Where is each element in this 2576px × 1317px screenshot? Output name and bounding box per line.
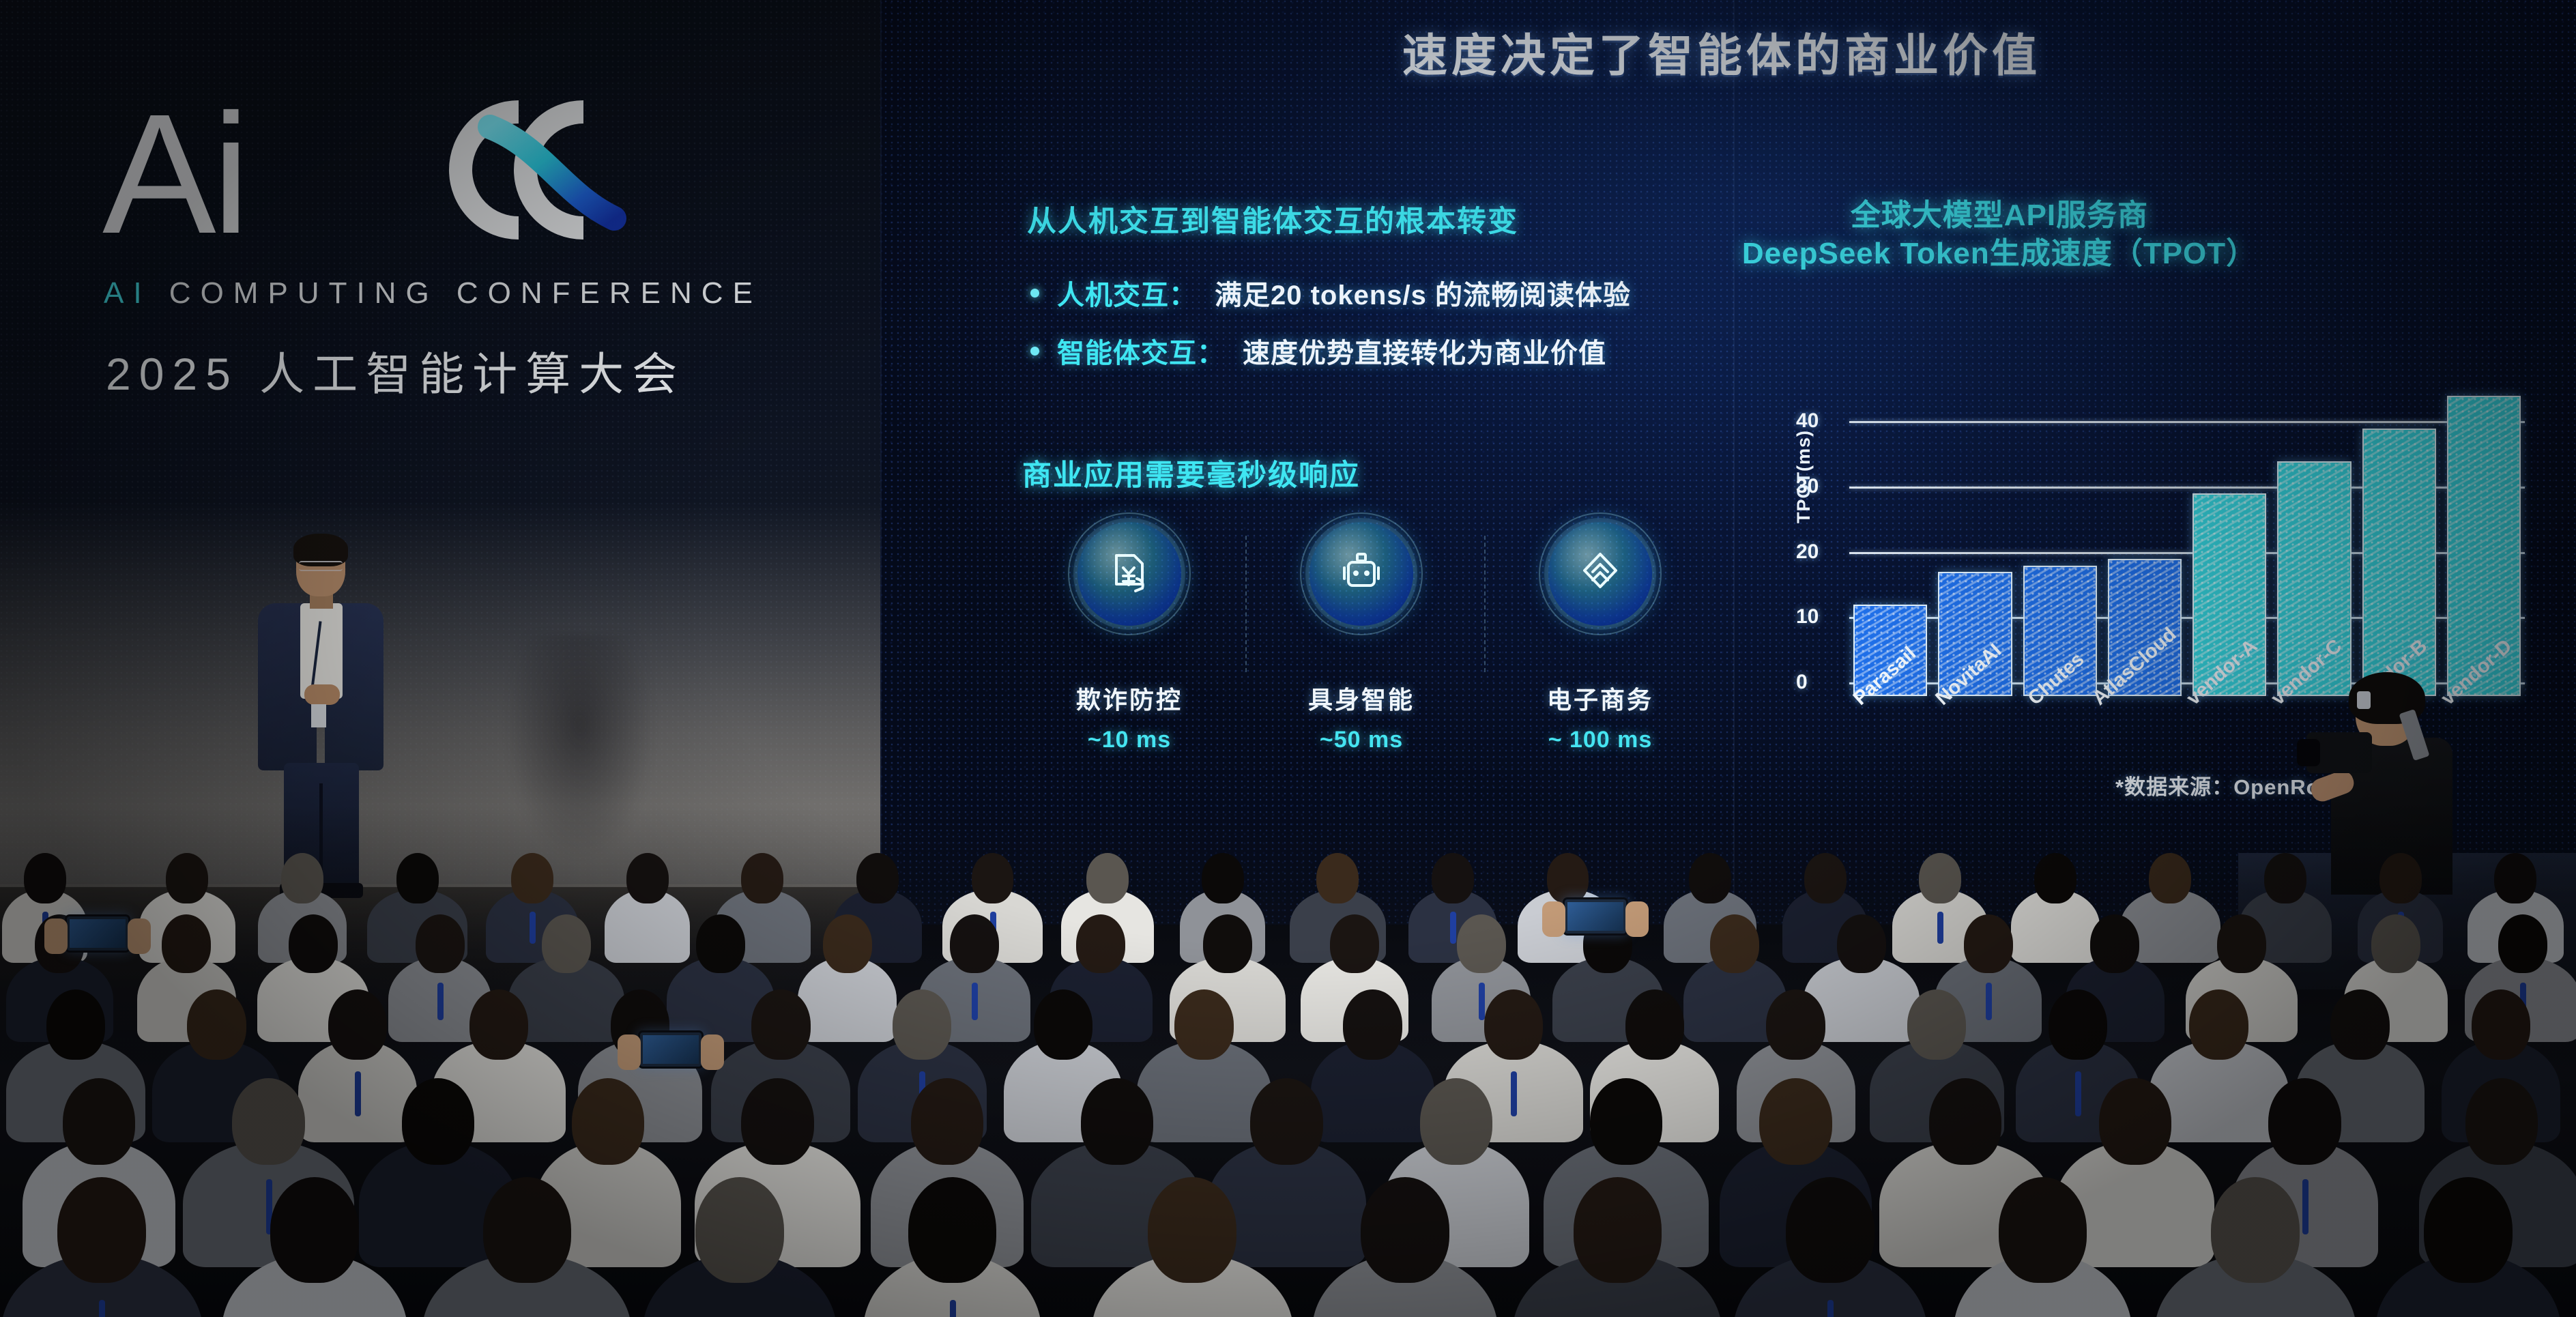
audience-head bbox=[2472, 989, 2530, 1060]
section-heading-latency: 商业应用需要毫秒级响应 bbox=[1022, 452, 1360, 494]
audience-head bbox=[166, 853, 208, 903]
audience-lanyard bbox=[1479, 983, 1485, 1020]
audience-head bbox=[1837, 914, 1886, 973]
audience-lanyard bbox=[950, 1300, 956, 1317]
card-label: 电子商务 bbox=[1511, 680, 1689, 716]
audience-head bbox=[856, 853, 899, 903]
audience-head bbox=[741, 853, 783, 903]
audience-head bbox=[1786, 1177, 1875, 1283]
audience-lanyard bbox=[530, 912, 536, 944]
audience-head bbox=[1689, 853, 1731, 903]
bullet-text: 满足20 tokens/s 的流畅阅读体验 bbox=[1215, 273, 1631, 313]
audience-head bbox=[2424, 1177, 2513, 1283]
card-value: ~10 ms bbox=[1041, 727, 1218, 753]
bullet-text: 速度优势直接转化为商业价值 bbox=[1243, 331, 1606, 371]
bullet-item-human-machine: 人机交互： 满足20 tokens/s 的流畅阅读体验 bbox=[1030, 273, 1631, 313]
audience-head bbox=[1034, 989, 1092, 1060]
fraud-document-yuan-icon bbox=[1103, 547, 1156, 600]
card-value: ~ 100 ms bbox=[1511, 727, 1689, 753]
audience-head bbox=[2268, 1078, 2341, 1165]
audience-crowd bbox=[0, 805, 2576, 1317]
x-label-slot: Parasail bbox=[1853, 688, 1927, 777]
audience-head bbox=[1574, 1177, 1662, 1283]
x-label-slot: Chutes bbox=[2023, 688, 2097, 777]
audience-head bbox=[396, 853, 439, 903]
audience-lanyard bbox=[1450, 912, 1456, 944]
audience-head bbox=[1202, 853, 1244, 903]
aicc-logo: Ai bbox=[102, 89, 703, 266]
headset-icon bbox=[2357, 691, 2371, 709]
audience-head bbox=[162, 914, 211, 973]
audience-head bbox=[1316, 853, 1359, 903]
card-orb bbox=[1077, 522, 1181, 626]
audience-lanyard bbox=[1511, 1071, 1517, 1116]
audience-head bbox=[270, 1177, 359, 1283]
audience-head bbox=[823, 914, 872, 973]
audience-head bbox=[1343, 989, 1402, 1060]
logo-tagline: AI COMPUTING CONFERENCE bbox=[104, 276, 762, 310]
bar-column bbox=[2023, 396, 2097, 696]
audience-hand bbox=[44, 918, 68, 954]
audience-head bbox=[187, 989, 246, 1060]
audience-lanyard bbox=[972, 983, 978, 1020]
led-panel-seam bbox=[880, 0, 882, 925]
audience-head bbox=[1759, 1078, 1832, 1165]
audience-head bbox=[741, 1078, 814, 1165]
audience-head bbox=[911, 1078, 984, 1165]
audience-head bbox=[542, 914, 591, 973]
audience-head bbox=[696, 914, 745, 973]
audience-head bbox=[2465, 1078, 2538, 1165]
audience-lanyard bbox=[2075, 1071, 2081, 1116]
audience-head bbox=[2379, 853, 2422, 903]
y-axis-tick-label: 30 bbox=[1796, 475, 1819, 498]
card-divider bbox=[1245, 536, 1247, 672]
conference-stage-photo: Ai AI COMPUTING CONFERENCE 2025 人工智能计算大会… bbox=[0, 0, 2576, 1317]
audience-head bbox=[1432, 853, 1474, 903]
audience-head bbox=[46, 989, 105, 1060]
audience-lanyard bbox=[1986, 983, 1992, 1020]
audience-head bbox=[2189, 989, 2248, 1060]
audience-head bbox=[751, 989, 810, 1060]
audience-head bbox=[2149, 853, 2191, 903]
audience-head bbox=[908, 1177, 997, 1283]
audience-lanyard bbox=[437, 983, 444, 1020]
conference-name-cn: 2025 人工智能计算大会 bbox=[106, 338, 685, 403]
audience-head bbox=[1484, 989, 1543, 1060]
audience-head bbox=[281, 853, 323, 903]
audience-phone-recording bbox=[638, 1030, 704, 1069]
audience-phone-recording bbox=[65, 914, 130, 953]
audience-head bbox=[416, 914, 465, 973]
bullet-dot-icon bbox=[1030, 289, 1039, 298]
bullet-item-agent: 智能体交互： 速度优势直接转化为商业价值 bbox=[1030, 331, 1606, 371]
audience-head bbox=[1547, 853, 1589, 903]
audience-head bbox=[1330, 914, 1379, 973]
latency-card-group: 欺诈防控 ~10 ms 具身智能 ~50 ms bbox=[1041, 522, 1764, 754]
audience-head bbox=[893, 989, 951, 1060]
speaker-badge bbox=[311, 704, 326, 727]
audience-head bbox=[2264, 853, 2306, 903]
audience-head bbox=[24, 853, 66, 903]
audience-head bbox=[1420, 1078, 1493, 1165]
camera-lens bbox=[2297, 739, 2320, 766]
audience-head bbox=[2049, 989, 2107, 1060]
audience-lanyard bbox=[2302, 1179, 2309, 1234]
logo-tagline-ai: AI bbox=[104, 276, 151, 310]
led-panel-seam bbox=[1733, 0, 1735, 925]
logo-tagline-rest: COMPUTING CONFERENCE bbox=[151, 276, 762, 310]
card-label: 欺诈防控 bbox=[1041, 680, 1218, 716]
audience-head bbox=[63, 1078, 136, 1165]
audience-head bbox=[1081, 1078, 1154, 1165]
audience-head bbox=[1076, 914, 1125, 973]
bullet-term: 智能体交互： bbox=[1057, 331, 1225, 371]
robot-icon bbox=[1335, 547, 1388, 600]
card-value: ~50 ms bbox=[1273, 727, 1450, 753]
logo-ai-text: Ai bbox=[102, 89, 246, 259]
bullet-term: 人机交互： bbox=[1057, 273, 1197, 313]
x-label-slot: NovitaAI bbox=[1938, 688, 2012, 777]
tpot-bar-chart: 010203040 ParasailNovitaAIChutesAtlasClo… bbox=[1836, 382, 2525, 696]
audience-head bbox=[57, 1177, 146, 1283]
audience-head bbox=[1361, 1177, 1449, 1283]
speaker-glasses bbox=[299, 561, 343, 571]
audience-head bbox=[328, 989, 387, 1060]
x-label-slot: AtlasCloud bbox=[2108, 688, 2182, 777]
audience-head bbox=[1203, 914, 1252, 973]
audience-head bbox=[972, 853, 1014, 903]
latency-card-ecommerce: 电子商务 ~ 100 ms bbox=[1511, 522, 1689, 753]
audience-head bbox=[2498, 914, 2547, 973]
audience-head bbox=[1457, 914, 1506, 973]
audience-head bbox=[950, 914, 999, 973]
audience-head bbox=[1919, 853, 1961, 903]
audience-lanyard bbox=[1937, 912, 1943, 944]
audience-hand bbox=[1625, 901, 1649, 937]
audience-head bbox=[572, 1078, 645, 1165]
audience-lanyard bbox=[99, 1300, 105, 1317]
logo-infinity-cc-mark bbox=[396, 85, 710, 255]
audience-head bbox=[626, 853, 669, 903]
audience-head bbox=[1148, 1177, 1236, 1283]
card-orb bbox=[1309, 522, 1413, 626]
chevron-up-cart-icon bbox=[1574, 547, 1627, 600]
bar-column bbox=[1853, 396, 1927, 696]
slide-title: 速度决定了智能体的商业价值 bbox=[1402, 19, 2041, 85]
audience-head bbox=[1907, 989, 1966, 1060]
audience-head bbox=[402, 1078, 475, 1165]
audience-head bbox=[1964, 914, 2013, 973]
latency-card-fraud: 欺诈防控 ~10 ms bbox=[1041, 522, 1218, 753]
section-heading-transformation: 从人机交互到智能体交互的根本转变 bbox=[1027, 198, 1518, 240]
latency-card-embodied-ai: 具身智能 ~50 ms bbox=[1273, 522, 1450, 753]
audience-head bbox=[1804, 853, 1847, 903]
audience-head bbox=[232, 1078, 305, 1165]
audience-head bbox=[2034, 853, 2076, 903]
audience-hand bbox=[618, 1034, 641, 1070]
audience-head bbox=[1174, 989, 1233, 1060]
audience-head bbox=[695, 1177, 784, 1283]
x-label-slot: vendor-A bbox=[2193, 688, 2266, 777]
audience-head bbox=[2494, 853, 2536, 903]
audience-head bbox=[1929, 1078, 2002, 1165]
chart-title-line1: 全球大模型API服务商 bbox=[1692, 197, 2306, 235]
chart-title-line2: DeepSeek Token生成速度（TPOT） bbox=[1692, 235, 2306, 273]
card-divider bbox=[1484, 536, 1486, 672]
audience-head bbox=[483, 1177, 572, 1283]
audience-head bbox=[2217, 914, 2266, 973]
audience-hand bbox=[701, 1034, 724, 1070]
card-label: 具身智能 bbox=[1273, 680, 1450, 716]
audience-head bbox=[2090, 914, 2139, 973]
audience-phone-recording bbox=[1563, 897, 1628, 936]
audience-head bbox=[2330, 989, 2389, 1060]
audience-hand bbox=[1542, 901, 1565, 937]
audience-head bbox=[2371, 914, 2420, 973]
y-axis-tick-label: 0 bbox=[1796, 671, 1808, 694]
audience-head bbox=[469, 989, 528, 1060]
audience-head bbox=[1590, 1078, 1663, 1165]
audience-head bbox=[1710, 914, 1759, 973]
audience-head bbox=[289, 914, 338, 973]
audience-head bbox=[2099, 1078, 2172, 1165]
audience-head bbox=[1999, 1177, 2087, 1283]
audience-head bbox=[1766, 989, 1825, 1060]
audience-hand bbox=[128, 918, 151, 954]
audience-head bbox=[511, 853, 553, 903]
chart-title: 全球大模型API服务商 DeepSeek Token生成速度（TPOT） bbox=[1692, 197, 2306, 274]
audience-lanyard bbox=[355, 1071, 361, 1116]
y-axis-tick-label: 10 bbox=[1796, 605, 1819, 628]
audience-head bbox=[1086, 853, 1129, 903]
audience-head bbox=[2211, 1177, 2300, 1283]
bullet-dot-icon bbox=[1030, 347, 1039, 356]
y-axis-tick-label: 20 bbox=[1796, 540, 1819, 564]
y-axis-tick-label: 40 bbox=[1796, 409, 1819, 433]
audience-head bbox=[1250, 1078, 1323, 1165]
audience-head bbox=[1625, 989, 1684, 1060]
audience-lanyard bbox=[1827, 1300, 1834, 1317]
card-orb bbox=[1548, 522, 1652, 626]
speaker-hands-clicker bbox=[304, 684, 340, 705]
